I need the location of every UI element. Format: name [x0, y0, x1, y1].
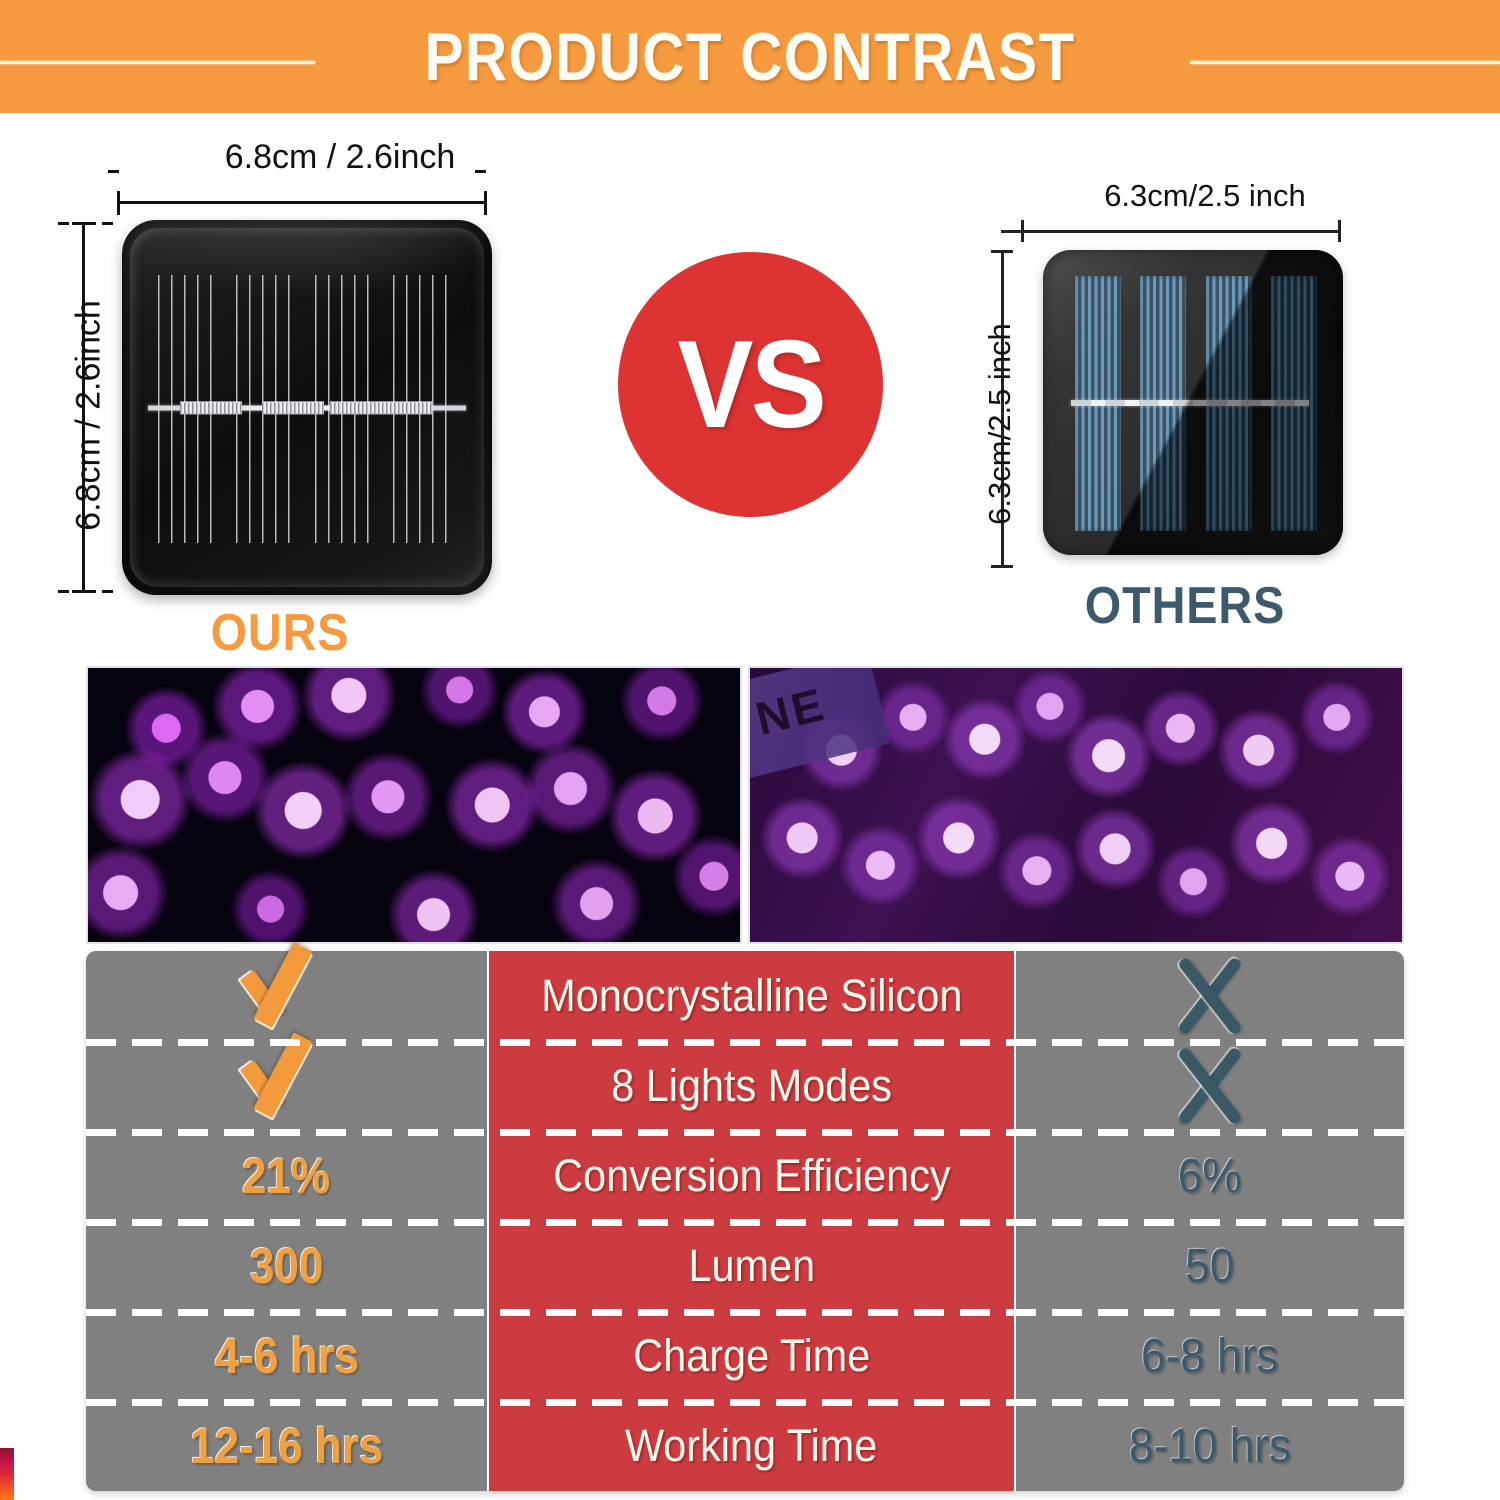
ours-value: 300 [250, 1237, 323, 1295]
others-cell [1016, 951, 1404, 1041]
table-row: 4-6 hrs Charge Time 6-8 hrs [86, 1311, 1404, 1401]
cross-icon [1160, 950, 1260, 1042]
others-value: 6% [1178, 1149, 1242, 1204]
feature-label: Conversion Efficiency [553, 1150, 950, 1202]
feature-label: Working Time [625, 1420, 877, 1472]
dimension-extension-line [475, 170, 497, 173]
ours-value: 12-16 hrs [190, 1417, 383, 1475]
others-width-measure-line [1021, 230, 1341, 233]
header-banner: PRODUCT CONTRAST [0, 0, 1500, 113]
corner-accent-strip [0, 1448, 14, 1500]
ours-cell: 4-6 hrs [86, 1311, 487, 1401]
others-solar-panel-image [1043, 250, 1343, 555]
others-width-dimension-label: 6.3cm/2.5 inch [1035, 178, 1375, 214]
ours-height-dimension-label: 6.8cm / 2.6inch [70, 226, 109, 606]
feature-label: Lumen [688, 1240, 815, 1292]
busbar-segment [374, 401, 432, 414]
width-measure-line [117, 201, 487, 204]
dimension-corner-tick [1001, 230, 1023, 233]
others-cell [1016, 1041, 1404, 1131]
ours-cell [86, 1041, 487, 1131]
ours-value: 21% [242, 1147, 330, 1205]
width-measure-cap-left [117, 191, 120, 215]
others-panel-group: 6.3cm/2.5 inch 6.3cm/2.5 inch OTHERS [975, 178, 1385, 638]
ours-panel-group: 6.8cm / 2.6inch 6.8cm / 2.6inch OURS [40, 138, 520, 638]
ours-solar-panel-image [122, 220, 492, 595]
row-divider [86, 1129, 1404, 1136]
feature-cell: Conversion Efficiency [489, 1131, 1014, 1221]
others-cell: 50 [1016, 1221, 1404, 1311]
comparison-table: Monocrystalline Silicon 8 Lights Modes 2… [86, 951, 1404, 1491]
others-height-cap-top [991, 250, 1013, 253]
ours-led-photo [86, 666, 742, 944]
panel-glare-overlay [1043, 250, 1343, 555]
vs-label: VS [677, 314, 824, 456]
ours-label: OURS [127, 603, 433, 663]
panel-comparison-section: 6.8cm / 2.6inch 6.8cm / 2.6inch OURS [0, 113, 1500, 658]
busbar-segment [262, 401, 324, 414]
feature-cell: 8 Lights Modes [489, 1041, 1014, 1131]
others-width-cap-right [1338, 220, 1341, 242]
row-divider [86, 1399, 1404, 1406]
cross-icon [1160, 1040, 1260, 1132]
others-value: 50 [1185, 1239, 1234, 1294]
others-value: 6-8 hrs [1141, 1329, 1278, 1384]
row-divider [86, 1039, 1404, 1046]
others-label: OTHERS [1023, 576, 1347, 636]
background-sign: NE [748, 666, 890, 779]
ours-cell: 12-16 hrs [86, 1401, 487, 1491]
feature-cell: Monocrystalline Silicon [489, 951, 1014, 1041]
table-row: 21% Conversion Efficiency 6% [86, 1131, 1404, 1221]
feature-cell: Charge Time [489, 1311, 1014, 1401]
ours-value: 4-6 hrs [214, 1327, 358, 1385]
table-row: 12-16 hrs Working Time 8-10 hrs [86, 1401, 1404, 1491]
feature-label: Monocrystalline Silicon [541, 970, 962, 1022]
ours-cell: 300 [86, 1221, 487, 1311]
feature-cell: Lumen [489, 1221, 1014, 1311]
led-photo-row: NE [86, 666, 1404, 944]
row-divider [86, 1309, 1404, 1316]
check-icon [228, 1044, 346, 1128]
ours-width-dimension-label: 6.8cm / 2.6inch [150, 138, 530, 177]
table-row: Monocrystalline Silicon [86, 951, 1404, 1041]
feature-cell: Working Time [489, 1401, 1014, 1491]
table-row: 300 Lumen 50 [86, 1221, 1404, 1311]
width-measure-cap-right [484, 191, 487, 215]
feature-label: Charge Time [633, 1330, 870, 1382]
table-row: 8 Lights Modes [86, 1041, 1404, 1131]
others-cell: 6% [1016, 1131, 1404, 1221]
others-cell: 8-10 hrs [1016, 1401, 1404, 1491]
sign-text: NE [750, 676, 831, 745]
ours-cell [86, 951, 487, 1041]
feature-label: 8 Lights Modes [611, 1060, 892, 1112]
vs-badge: VS [618, 252, 883, 517]
others-height-dimension-label: 6.3cm/2.5 inch [982, 254, 1018, 594]
others-value: 8-10 hrs [1129, 1419, 1291, 1474]
ours-cell: 21% [86, 1131, 487, 1221]
check-icon [228, 954, 346, 1038]
others-cell: 6-8 hrs [1016, 1311, 1404, 1401]
page-title: PRODUCT CONTRAST [105, 0, 1395, 113]
others-led-photo: NE [748, 666, 1404, 944]
dimension-extension-line [108, 170, 130, 173]
row-divider [86, 1219, 1404, 1226]
busbar-segment [180, 401, 242, 414]
